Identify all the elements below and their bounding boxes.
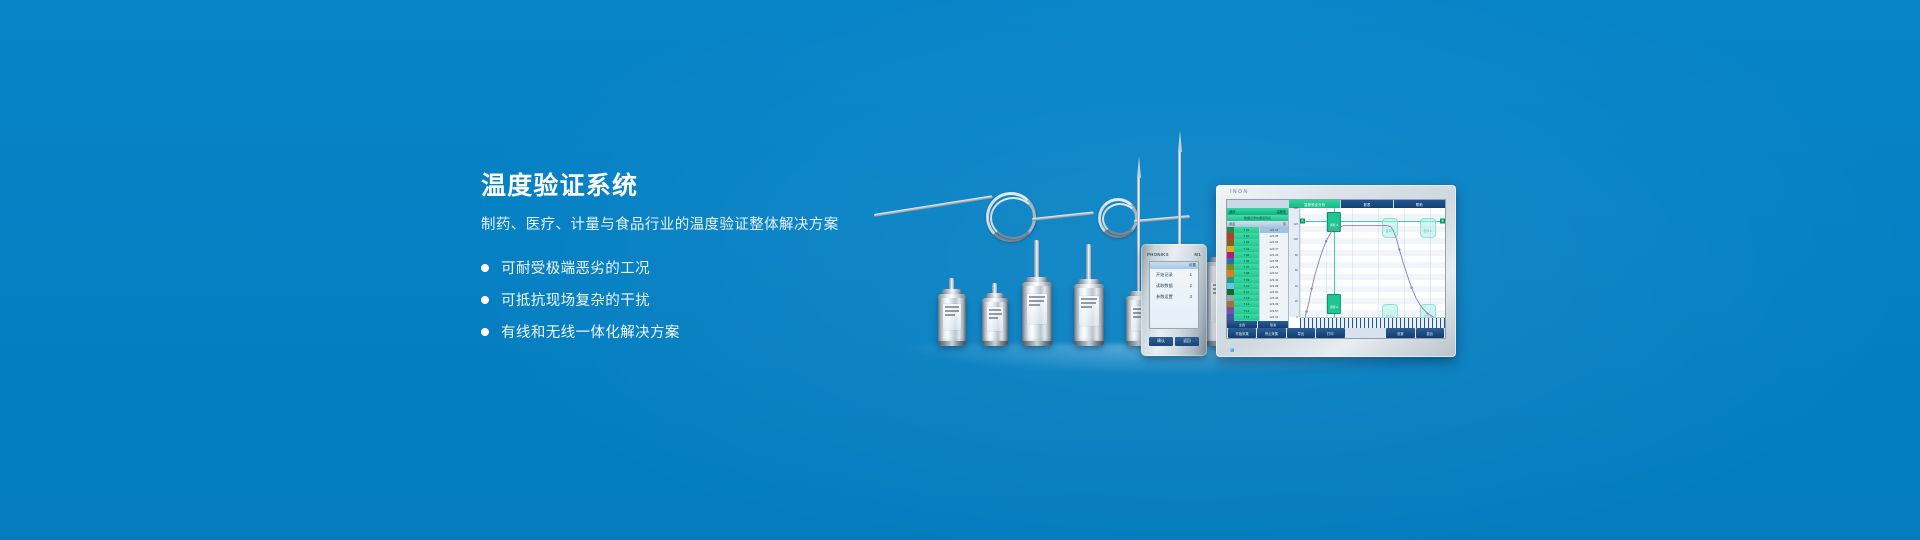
chart-data-point [1305,310,1307,312]
toolbar-button[interactable]: 设置 [1386,328,1414,338]
chart-data-point [1410,287,1412,289]
channel-value-label: 123.41 [1269,228,1278,232]
handheld-titlebar: 设置 [1150,262,1198,269]
channel-value-label: 123.44 [1269,278,1278,282]
channel-name-label: T 13 [1243,302,1249,306]
feature-bullet-label: 可耐受极端恶劣的工况 [501,257,650,278]
channel-value-label: 123.39 [1269,302,1278,306]
channel-value-label: 123.61 [1269,271,1278,275]
sidebar-subheader-text: 数据记录仪通道列表 [1244,216,1271,220]
chart-plot-area[interactable]: A B 游标 A 游标 A [1300,208,1445,317]
channel-name-label: T 08 [1243,271,1249,275]
channel-name-label: T 15 [1243,315,1249,319]
sidebar-footer-button-label: 取消 [1270,323,1276,327]
feature-bullet: 可抵抗现场复杂的干扰 [481,287,911,313]
channel-name-label: T 09 [1243,278,1249,282]
handheld-model: M1 [1194,252,1201,257]
channel-name-label: T 04 [1243,247,1249,251]
handheld-button[interactable]: 返回 [1175,337,1199,346]
handheld-menu-item[interactable]: 开始记录1 [1150,269,1198,280]
handheld-button[interactable]: 确认 [1149,337,1173,346]
toolbar-button[interactable]: 导出 [1287,328,1315,338]
handheld-menu-item[interactable]: 读取数据2 [1150,280,1198,291]
handheld-menu-list: 开始记录1读取数据2参数设置3 [1150,269,1198,302]
monitor-bezel: INON 温度验证分析报表帮助 通道 温度值 数据记录仪通道列表 [1216,185,1456,357]
channel-value-label: 123.47 [1269,247,1278,251]
channel-table: T 01123.41T 02123.38T 03123.52T 04123.47… [1227,227,1288,321]
toolbar-button-label: 打印 [1327,331,1334,336]
probe-wire [874,195,993,217]
chart-y-tick-label: 60 [1295,268,1298,272]
page-title: 温度验证系统 [481,172,911,201]
logger-body [1074,284,1104,346]
handheld-titlebar-text: 设置 [1189,263,1196,268]
sidebar-header: 通道 温度值 [1227,208,1288,215]
chart-data-point [1325,240,1327,242]
handheld-menu-item-label: 读取数据 [1156,283,1173,289]
toolbar-button[interactable]: 停止采集 [1257,328,1285,338]
feature-bullet-label: 有线和无线一体化解决方案 [501,321,680,342]
channel-name-label: T 06 [1243,259,1249,263]
logger-label [987,307,1004,331]
probe-coil-ring [1102,203,1138,235]
chart-y-tick-label: 80 [1295,253,1298,257]
handheld-menu-item-value: 3 [1190,294,1192,299]
toolbar-button[interactable]: 开始采集 [1228,328,1256,338]
hero-banner: 温度验证系统 制药、医疗、计量与食品行业的温度验证整体解决方案 可耐受极端恶劣的… [0,0,1920,540]
feature-bullet-label: 可抵抗现场复杂的干扰 [501,289,650,310]
sidebar-header-right: 温度值 [1276,209,1286,214]
logger-label [1027,294,1046,324]
handheld-brand-row: PHONIKS M1 [1147,252,1201,257]
channel-name-label: T 07 [1243,265,1249,269]
logger-body [1022,282,1052,346]
channel-name-label: T 11 [1244,290,1250,294]
toolbar-button-label: 开始采集 [1236,331,1249,336]
software-tab-bar: 温度验证分析报表帮助 [1227,200,1445,208]
channel-value-label: 123.50 [1269,290,1278,294]
software-tab-label: 温度验证分析 [1304,202,1326,207]
software-screen: 温度验证分析报表帮助 通道 温度值 数据记录仪通道列表 通道 值 [1226,199,1446,339]
chart-y-tick-label: 20 [1295,299,1298,303]
probe-stem [1086,244,1091,284]
handheld-menu-item-label: 开始记录 [1156,272,1173,278]
chart-data-point [1310,288,1312,290]
sidebar-footer-buttons: 全选取消 [1227,321,1288,328]
probe-coil-ring [990,197,1036,239]
channel-value-label: 123.31 [1269,315,1278,319]
channel-name-label: T 05 [1243,253,1249,257]
software-tab[interactable]: 报表 [1341,200,1392,208]
channel-value-label: 123.52 [1269,240,1278,244]
channel-value-label: 123.29 [1269,265,1278,269]
banner-copy-block: 温度验证系统 制药、医疗、计量与食品行业的温度验证整体解决方案 可耐受极端恶劣的… [481,172,911,351]
channel-name-label: T 02 [1243,234,1249,238]
sidebar-footer-button[interactable]: 取消 [1258,321,1288,328]
chart-y-axis: 020406080100120140 [1289,208,1300,317]
feature-bullet-list: 可耐受极端恶劣的工况可抵抗现场复杂的干扰有线和无线一体化解决方案 [481,255,911,345]
channel-name-label: T 01 [1243,228,1249,232]
toolbar-spacer [1346,328,1386,338]
channel-value-label: 123.55 [1269,259,1278,263]
monitor-display: INON 温度验证分析报表帮助 通道 温度值 数据记录仪通道列表 [1216,185,1456,357]
channel-value-label: 123.38 [1269,234,1278,238]
power-indicator-icon [1230,348,1234,352]
monitor-brand: INON [1230,189,1249,195]
logger-small-2[interactable] [982,292,1008,346]
feature-bullet: 可耐受极端恶劣的工况 [481,255,911,281]
chart-panel: 020406080100120140 A B [1289,208,1445,328]
probe-wire [1134,215,1190,223]
toolbar-button-label: 设置 [1397,331,1404,336]
sidebar-footer-button-label: 全选 [1239,323,1245,327]
handheld-reader[interactable]: PHONIKS M1 设置 开始记录1读取数据2参数设置3 确认返回 [1141,244,1207,356]
channel-value-label: 123.33 [1269,253,1278,257]
software-tab-label: 报表 [1363,202,1370,207]
chart-y-tick-label: 100 [1293,237,1298,241]
logger-body [938,294,966,346]
handheld-screen: 设置 开始记录1读取数据2参数设置3 [1149,261,1199,329]
handheld-button-row: 确认返回 [1149,337,1199,346]
handheld-menu-item[interactable]: 参数设置3 [1150,291,1198,302]
bullet-dot-icon [481,296,489,304]
handheld-brand: PHONIKS [1147,252,1169,257]
probe-stem [1034,240,1039,282]
chart-y-tick-label: 140 [1293,206,1298,210]
toolbar-button[interactable]: 退出 [1416,328,1444,338]
channel-name-label: T 10 [1243,284,1249,288]
software-tab[interactable]: 帮助 [1394,200,1445,208]
handheld-button-label: 确认 [1157,339,1165,344]
toolbar-button-label: 退出 [1427,331,1434,336]
chart-y-tick-label: 0 [1296,315,1298,319]
software-toolbar: 开始采集停止采集导出打印设置退出 [1227,328,1445,338]
logger-label [1079,296,1098,326]
needle-probe [1137,178,1140,296]
channel-name-label: T 12 [1243,296,1249,300]
column-header-value: 值 [1283,222,1286,226]
chart-x-axis [1300,317,1445,328]
page-subtitle: 制药、医疗、计量与食品行业的温度验证整体解决方案 [481,216,911,235]
channel-name-label: T 14 [1243,309,1249,313]
feature-bullet: 有线和无线一体化解决方案 [481,319,911,345]
chart-series-curve [1300,208,1445,317]
bullet-dot-icon [481,328,489,336]
channel-sidebar: 通道 温度值 数据记录仪通道列表 通道 值 T 01123.41T 02123.… [1227,208,1289,328]
logger-coil-2[interactable] [1074,276,1104,346]
logger-body [982,298,1008,346]
software-tab-label: 帮助 [1416,202,1423,207]
toolbar-button-label: 导出 [1298,331,1305,336]
chart-y-tick-label: 120 [1293,222,1298,226]
channel-value-label: 123.36 [1269,284,1278,288]
channel-value-label: 123.57 [1269,309,1278,313]
handheld-menu-item-value: 2 [1190,283,1192,288]
software-body: 通道 温度值 数据记录仪通道列表 通道 值 T 01123.41T 02123.… [1227,208,1445,328]
column-header-channel: 通道 [1229,222,1235,226]
channel-value-label: 123.42 [1269,296,1278,300]
chart-y-tick-label: 40 [1295,284,1298,288]
channel-name-label: T 03 [1243,240,1249,244]
chart-data-point [1398,248,1400,250]
chart-data-point [1426,312,1428,314]
logger-coil-1[interactable] [1022,274,1052,346]
sidebar-footer-button[interactable]: 全选 [1227,321,1257,328]
chart-data-markers [1305,240,1428,315]
handheld-menu-item-value: 1 [1190,272,1192,277]
sidebar-header-left: 通道 [1229,209,1235,214]
handheld-button-label: 返回 [1183,339,1191,344]
handheld-menu-item-label: 参数设置 [1156,294,1173,300]
toolbar-button[interactable]: 打印 [1316,328,1344,338]
logger-label [943,304,961,330]
toolbar-button-label: 停止采集 [1265,331,1278,336]
logger-small-1[interactable] [938,288,966,346]
bullet-dot-icon [481,264,489,272]
